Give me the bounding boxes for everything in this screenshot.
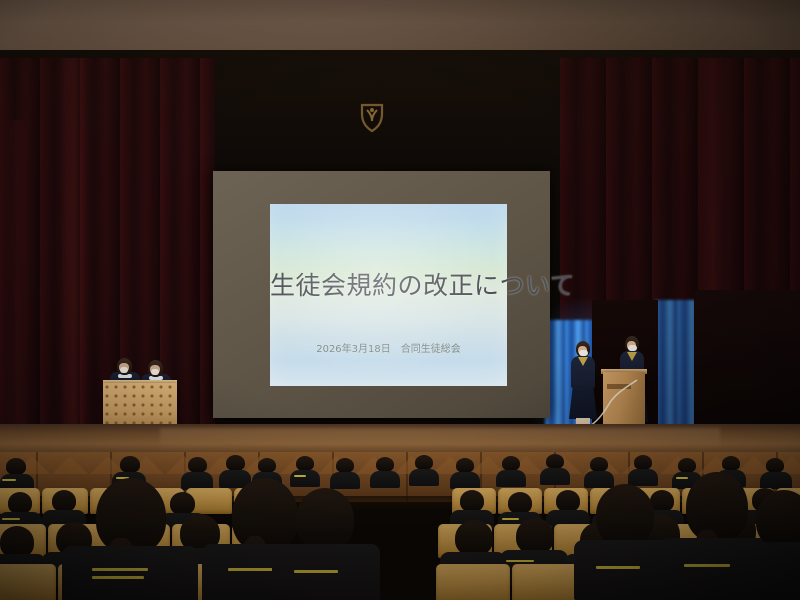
audience-head-foreground <box>686 472 748 542</box>
auditorium-seat[interactable] <box>436 564 510 600</box>
audience-shoulders <box>330 472 360 489</box>
collar-stripe <box>92 568 148 571</box>
audience-shoulders-foreground <box>62 546 198 600</box>
audience-head <box>460 490 484 512</box>
school-crest-icon <box>357 101 387 133</box>
collar-stripe <box>506 560 534 562</box>
audience-head <box>6 458 26 475</box>
audience-shoulders <box>450 472 480 489</box>
audience-shoulders <box>584 471 614 488</box>
auditorium-scene: 生徒会規約の改正について 2026年3月18日 合同生徒総会 <box>0 0 800 600</box>
audience-shoulders <box>370 471 400 488</box>
audience-head <box>634 455 652 470</box>
audience-head-foreground <box>756 490 800 548</box>
collar-stripe <box>294 570 338 573</box>
curtain-overlap-dark <box>694 290 800 440</box>
collar-stripe <box>502 518 519 520</box>
audience-head-foreground <box>596 484 654 546</box>
audience-head <box>766 458 784 473</box>
collar-stripe <box>676 477 688 479</box>
collar-stripe <box>596 566 640 569</box>
audience-shoulders <box>290 470 320 487</box>
audience-shoulders <box>496 470 526 487</box>
collar-stripe <box>2 518 20 520</box>
audience-head-foreground <box>296 488 354 550</box>
audience-head <box>516 518 554 554</box>
audience-shoulders <box>760 472 792 489</box>
audience-head <box>376 457 394 472</box>
audience-head <box>8 492 32 514</box>
slide-title: 生徒会規約の改正について <box>270 266 507 302</box>
collar-stripe <box>684 564 730 567</box>
audience-head <box>336 458 354 473</box>
audience-shoulders-foreground <box>734 542 800 600</box>
curtain-fold <box>6 120 28 440</box>
audience-head <box>590 457 608 472</box>
audience-shoulders <box>540 468 570 485</box>
audience-head <box>455 520 493 556</box>
face-mask <box>151 369 159 375</box>
face-mask <box>120 367 128 373</box>
audience-head <box>415 455 433 470</box>
collar-stripe <box>92 576 144 579</box>
collar-stripe <box>228 568 278 571</box>
audience-head <box>678 458 696 473</box>
auditorium-seat[interactable] <box>0 564 56 600</box>
audience-head <box>508 492 532 514</box>
collar-stripe <box>294 475 306 477</box>
stage-floor-reflection <box>160 428 720 452</box>
audience-head <box>456 458 474 473</box>
slide-subtitle: 2026年3月18日 合同生徒総会 <box>270 340 507 355</box>
audience-head <box>258 458 276 473</box>
audience-head <box>52 490 76 512</box>
curtain-fold <box>60 58 88 438</box>
collar-stripe <box>2 479 16 481</box>
audience-head <box>296 456 314 471</box>
audience-head-foreground <box>232 478 298 552</box>
audience-head <box>650 490 674 512</box>
audience-area <box>0 452 800 600</box>
audience-shoulders <box>628 469 658 486</box>
audience-head <box>722 456 740 471</box>
audience-head <box>226 455 245 471</box>
audience-head <box>120 456 140 473</box>
audience-shoulders <box>409 469 439 486</box>
audience-head <box>170 492 195 515</box>
audience-head <box>556 490 580 512</box>
audience-head <box>546 454 564 469</box>
audience-head <box>502 456 520 471</box>
audience-head <box>188 457 207 473</box>
